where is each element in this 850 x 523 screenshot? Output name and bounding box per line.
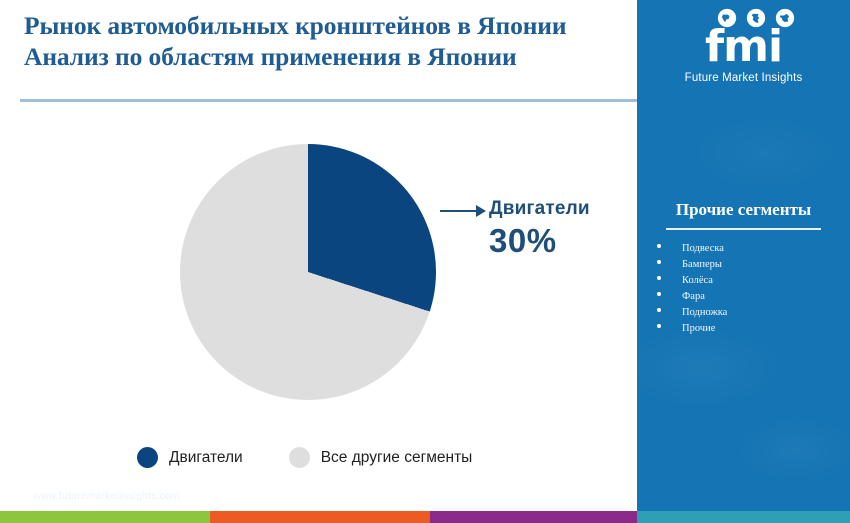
list-item-label: Колёса	[682, 275, 713, 286]
bar-segment-purple	[430, 511, 637, 523]
list-item-label: Прочие	[682, 323, 715, 334]
list-item: Колёса	[657, 275, 847, 286]
list-item-label: Подвеска	[682, 243, 724, 254]
legend-item: Все другие сегменты	[289, 447, 473, 468]
bullet-icon	[657, 292, 661, 296]
list-item-label: Подножка	[682, 307, 727, 318]
pie-chart	[180, 144, 436, 400]
legend-label: Все другие сегменты	[321, 449, 473, 467]
other-segments-underline	[666, 228, 821, 230]
title-line-2: Анализ по областям применения в Японии	[24, 41, 636, 72]
page-title: Рынок автомобильных кронштейнов в Японии…	[24, 10, 636, 72]
bar-segment-orange	[210, 511, 430, 523]
legend-label: Двигатели	[169, 449, 243, 467]
bullet-icon	[657, 308, 661, 312]
chart-legend: Двигатели Все другие сегменты	[137, 447, 472, 468]
list-item: Подвеска	[657, 243, 847, 254]
callout-label: Двигатели	[489, 198, 590, 220]
logo-wordmark: fmi	[637, 24, 850, 70]
list-item-label: Бамперы	[682, 259, 722, 270]
callout-leader-line	[440, 210, 478, 212]
bullet-icon	[657, 244, 661, 248]
list-item: Подножка	[657, 307, 847, 318]
bullet-icon	[657, 276, 661, 280]
title-divider	[20, 99, 637, 102]
bar-segment-green	[0, 511, 210, 523]
other-segments-list: Подвеска Бамперы Колёса Фара Подножка Пр…	[657, 243, 847, 339]
website-url[interactable]: www.futuremarketinsights.com	[0, 490, 213, 502]
legend-swatch-icon	[137, 447, 158, 468]
bottom-color-bar	[0, 511, 850, 523]
bullet-icon	[657, 324, 661, 328]
callout-value: 30%	[489, 222, 557, 260]
arrow-right-icon	[476, 205, 486, 217]
list-item: Прочие	[657, 323, 847, 334]
pie-chart-graphic	[180, 144, 436, 400]
list-item-label: Фара	[682, 291, 705, 302]
list-item: Фара	[657, 291, 847, 302]
bar-segment-teal	[637, 511, 850, 523]
other-segments-title: Прочие сегменты	[637, 200, 850, 220]
slide-canvas: Рынок автомобильных кронштейнов в Японии…	[0, 0, 850, 523]
main-content-area: Рынок автомобильных кронштейнов в Японии…	[0, 0, 637, 511]
bullet-icon	[657, 260, 661, 264]
legend-item: Двигатели	[137, 447, 243, 468]
legend-swatch-icon	[289, 447, 310, 468]
fmi-logo: fmi Future Market Insights	[637, 8, 850, 84]
logo-tagline: Future Market Insights	[637, 72, 850, 84]
title-line-1: Рынок автомобильных кронштейнов в Японии	[24, 10, 636, 41]
list-item: Бамперы	[657, 259, 847, 270]
